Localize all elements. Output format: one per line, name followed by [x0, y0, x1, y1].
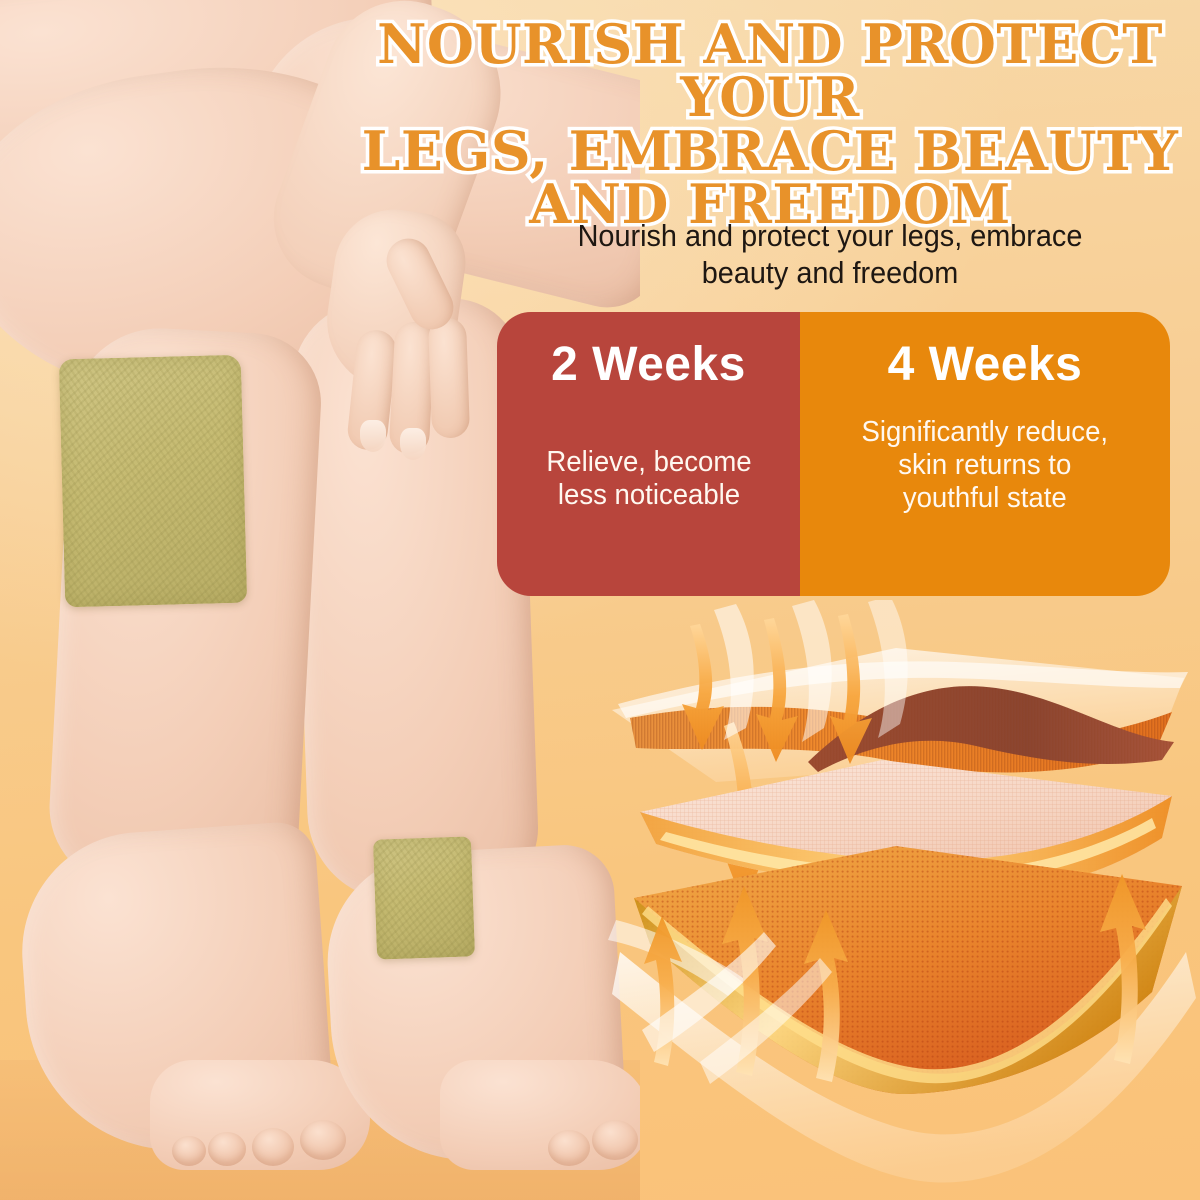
headline-line-2: LEGS, EMBRACE BEAUTY: [331, 125, 1200, 178]
panel-four-weeks-desc-line-1: Significantly reduce,: [862, 416, 1109, 449]
panel-four-weeks-desc-line-2: skin returns to: [862, 449, 1109, 482]
panel-two-weeks-title: 2 Weeks: [551, 340, 746, 390]
comparison-card: 2 Weeks Relieve, become less noticeable …: [497, 312, 1170, 596]
toe: [548, 1130, 590, 1166]
headline: NOURISH AND PROTECT YOUR LEGS, EMBRACE B…: [340, 18, 1200, 232]
fingernail: [360, 420, 386, 452]
toe: [208, 1132, 246, 1166]
headline-line-1: NOURISH AND PROTECT YOUR: [340, 18, 1200, 125]
panel-four-weeks-desc-line-3: youthful state: [862, 482, 1109, 515]
panel-four-weeks-description: Significantly reduce, skin returns to yo…: [862, 416, 1109, 515]
subtitle-line-2: beauty and freedom: [495, 255, 1165, 292]
panel-two-weeks-description: Relieve, become less noticeable: [546, 446, 751, 512]
ankle-patch: [373, 836, 475, 959]
product-ad-canvas: NOURISH AND PROTECT YOUR LEGS, EMBRACE B…: [0, 0, 1200, 1200]
panel-two-weeks: 2 Weeks Relieve, become less noticeable: [497, 312, 800, 596]
toe: [252, 1128, 294, 1166]
knee-patch: [59, 355, 247, 608]
toe: [300, 1120, 346, 1160]
toe: [172, 1136, 206, 1166]
panel-four-weeks: 4 Weeks Significantly reduce, skin retur…: [800, 312, 1170, 596]
panel-four-weeks-title: 4 Weeks: [888, 340, 1083, 390]
panel-two-weeks-desc-line-2: less noticeable: [546, 479, 751, 512]
finger: [428, 317, 470, 438]
subtitle-line-1: Nourish and protect your legs, embrace: [495, 218, 1165, 255]
subtitle: Nourish and protect your legs, embrace b…: [495, 218, 1165, 291]
patch-layer-diagram: [596, 600, 1200, 1200]
fingernail: [400, 428, 426, 460]
panel-two-weeks-desc-line-1: Relieve, become: [546, 446, 751, 479]
